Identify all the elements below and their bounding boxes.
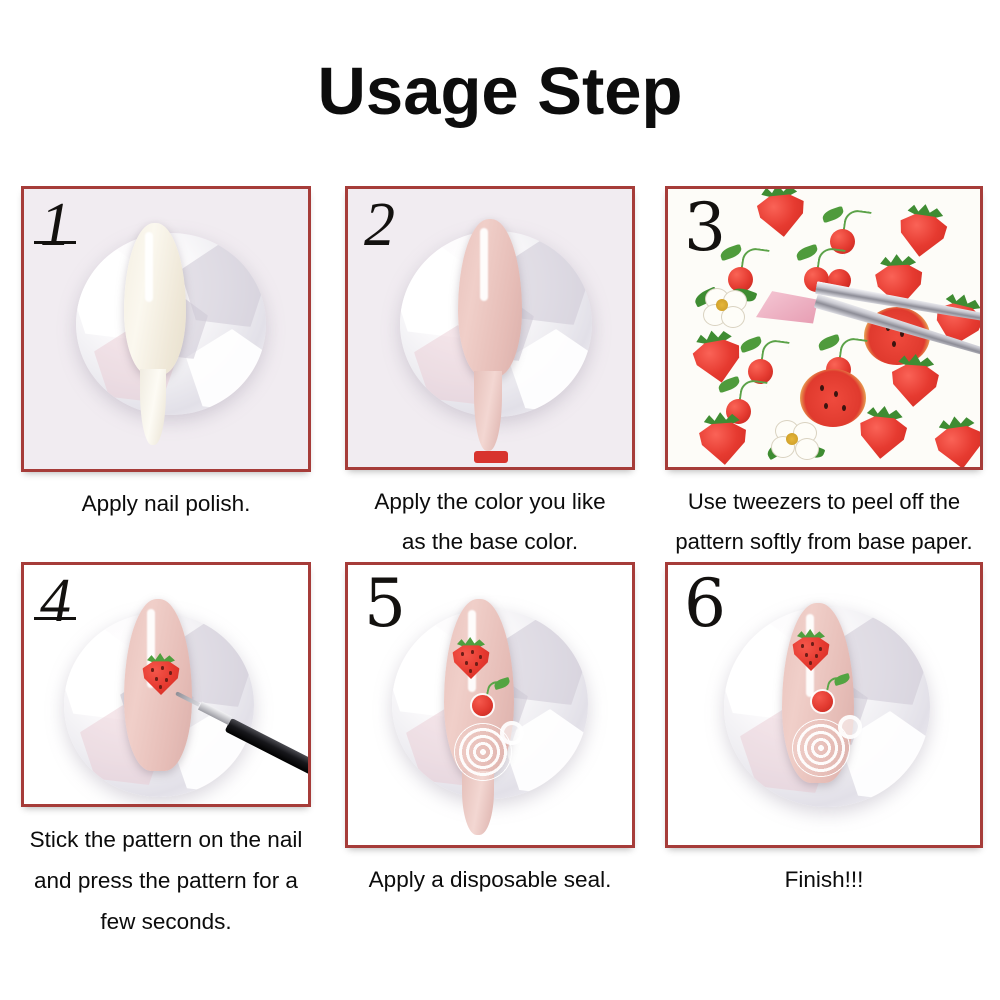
- step-card-5: 5 Apply a disposable seal.: [340, 562, 640, 942]
- strawberry-decal: [788, 627, 834, 671]
- step-caption-5: Apply a disposable seal.: [330, 860, 650, 900]
- step-card-4: 4 Stick the pattern on the nail and pres…: [16, 562, 316, 942]
- step-caption-3: Use tweezers to peel off the pattern sof…: [649, 482, 999, 562]
- step-image-4: 4: [21, 562, 311, 807]
- cherry-decal: [810, 675, 850, 713]
- small-swirl-decal: [838, 715, 862, 739]
- step-caption-2: Apply the color you like as the base col…: [330, 482, 650, 562]
- step-image-1: 1: [21, 186, 311, 472]
- step-number-3: 3: [684, 193, 726, 262]
- step-card-2: 2 Apply the color you like as the base c…: [340, 186, 640, 562]
- step-caption-1: Apply nail polish.: [6, 484, 326, 524]
- step-image-6: 6: [665, 562, 983, 848]
- step-image-5: 5: [345, 562, 635, 848]
- step-image-3: 3: [665, 186, 983, 470]
- step-image-2: 2: [345, 186, 635, 470]
- strawberry-decal: [138, 651, 184, 695]
- strawberry-decal: [448, 635, 494, 679]
- steps-row-top: 1 Apply nail polish.: [0, 186, 1000, 562]
- pink-decal: [756, 289, 818, 325]
- step-card-3: 3 Use tweezers to peel off the pattern s…: [664, 186, 984, 562]
- step-caption-4: Stick the pattern on the nail and press …: [6, 819, 326, 942]
- usage-steps-grid: 1 Apply nail polish.: [0, 186, 1000, 942]
- step-number-5: 5: [364, 569, 406, 638]
- cherry-decal: [470, 679, 510, 717]
- step-number-6: 6: [684, 569, 726, 638]
- step-card-1: 1 Apply nail polish.: [16, 186, 316, 562]
- steps-row-bottom: 4 Stick the pattern on the nail and pres…: [0, 562, 1000, 942]
- step-card-6: 6 Finish!!!: [664, 562, 984, 942]
- step-number-4: 4: [40, 569, 71, 634]
- step-number-1: 1: [40, 193, 71, 258]
- small-swirl-decal: [500, 721, 524, 745]
- page-title: Usage Step: [0, 0, 1000, 88]
- step-caption-6: Finish!!!: [664, 860, 984, 900]
- step-number-2: 2: [364, 193, 395, 258]
